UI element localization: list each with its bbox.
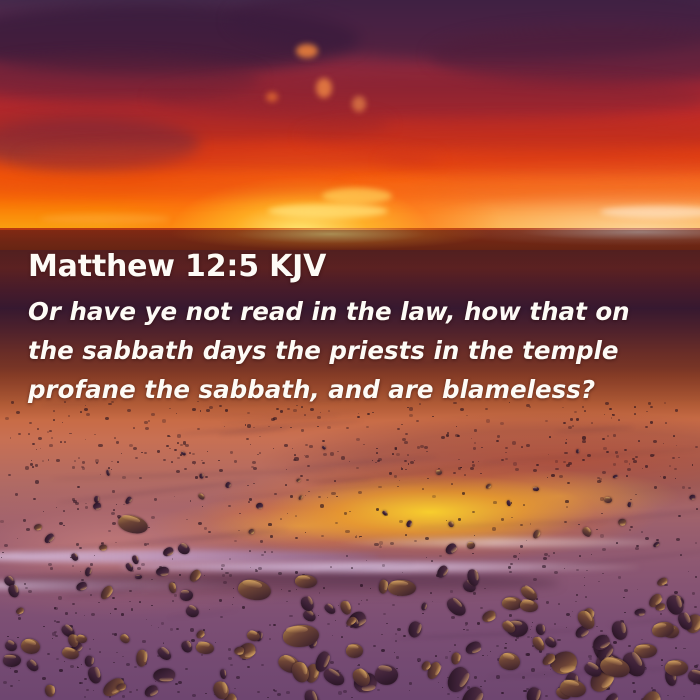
- sand-grit: [111, 512, 115, 515]
- sand-grit: [542, 565, 546, 568]
- sand-grit: [287, 513, 288, 514]
- sand-grit: [260, 540, 263, 543]
- sand-grit: [630, 526, 633, 528]
- sand-grit: [323, 453, 327, 456]
- sand-grit: [248, 501, 250, 503]
- sand-grit: [293, 409, 297, 412]
- sand-grit: [624, 460, 627, 463]
- sand-grit: [584, 577, 585, 578]
- sand-grit: [359, 537, 360, 538]
- verse-body: Or have ye not read in the law, how that…: [28, 292, 680, 409]
- sand-grit: [270, 535, 273, 537]
- pebble: [19, 636, 42, 657]
- sand-grit: [404, 460, 407, 463]
- sand-grit: [613, 641, 617, 644]
- sand-grit: [603, 447, 606, 450]
- sand-grit: [247, 666, 250, 668]
- pebble: [450, 651, 462, 665]
- sand-grit: [321, 535, 324, 537]
- sand-grit: [94, 434, 96, 436]
- pebble: [24, 658, 39, 673]
- sand-grit: [202, 506, 203, 507]
- sand-grit: [409, 690, 410, 691]
- sand-grit: [661, 665, 662, 666]
- sand-grit: [126, 663, 130, 666]
- sand-grit: [17, 637, 18, 638]
- sand-grit: [111, 469, 112, 470]
- sand-grit: [484, 680, 486, 682]
- sand-grit: [363, 444, 365, 445]
- sand-grit: [185, 444, 189, 447]
- sand-grit: [566, 613, 570, 616]
- sand-grit: [464, 474, 467, 476]
- sand-grit: [273, 624, 276, 626]
- sand-grit: [14, 670, 17, 673]
- sand-grit: [496, 440, 499, 442]
- sand-grit: [123, 504, 125, 505]
- pebble: [484, 483, 492, 490]
- sand-ripple: [562, 497, 700, 527]
- sand-grit: [397, 628, 401, 631]
- sand-grit: [280, 518, 282, 520]
- sand-grit: [18, 433, 21, 435]
- sand-grit: [624, 449, 627, 451]
- pebble: [195, 640, 215, 655]
- sand-grit: [112, 597, 115, 599]
- sand-grit: [174, 594, 177, 597]
- sand-grit: [68, 415, 70, 416]
- sand-grit: [146, 619, 147, 620]
- sand-grit: [122, 695, 125, 698]
- sand-grit: [472, 511, 475, 513]
- sand-grit: [204, 527, 207, 530]
- sand-grit: [523, 690, 526, 693]
- sand-grit: [176, 628, 179, 630]
- sand-grit: [247, 485, 249, 487]
- sand-grit: [675, 478, 676, 479]
- sand-grit: [392, 604, 395, 606]
- sand-grit: [215, 642, 216, 643]
- sand-grit: [191, 639, 195, 642]
- sand-grit: [521, 446, 523, 448]
- sand-grit: [76, 543, 79, 546]
- sand-grit: [550, 669, 552, 670]
- sand-grit: [558, 603, 560, 605]
- sand-grit: [623, 597, 625, 598]
- sand-grit: [458, 459, 460, 461]
- sand-grit: [245, 424, 247, 425]
- sand-grit: [154, 498, 157, 500]
- pebble: [345, 642, 364, 659]
- sand-grit: [300, 475, 304, 478]
- sand-grit: [676, 538, 680, 541]
- sand-grit: [513, 555, 517, 558]
- sand-grit: [148, 527, 150, 528]
- sand-grit: [487, 655, 488, 656]
- sand-grit: [585, 596, 587, 598]
- sand-grit: [497, 435, 500, 437]
- sand-grit: [409, 414, 413, 417]
- sand-grit: [84, 678, 87, 681]
- sand-grit: [64, 441, 66, 443]
- pebble: [92, 502, 101, 510]
- sand-grit: [37, 428, 39, 429]
- pebble: [374, 663, 400, 687]
- sand-grit: [694, 665, 698, 668]
- pebble: [463, 639, 482, 656]
- sand-grit: [56, 507, 58, 508]
- sand-grit: [673, 435, 675, 437]
- sand-grit: [77, 508, 79, 510]
- sand-grit: [234, 688, 236, 689]
- sand-grit: [116, 504, 117, 505]
- sand-grit: [116, 652, 118, 654]
- sand-grit: [675, 409, 679, 412]
- sand-grit: [612, 414, 615, 416]
- sand-grit: [309, 445, 312, 448]
- sand-grit: [23, 519, 27, 522]
- sand-grit: [323, 587, 325, 589]
- sand-grit: [219, 469, 223, 472]
- sand-grit: [75, 612, 77, 614]
- sand-grit: [108, 530, 111, 532]
- sand-grit: [474, 442, 476, 444]
- sand-grit: [358, 603, 360, 605]
- sand-grit: [426, 557, 427, 558]
- pebble: [636, 688, 665, 700]
- sand-grit: [378, 486, 382, 489]
- sand-grit: [576, 569, 579, 572]
- sand-grit: [35, 464, 38, 466]
- sand-grit: [79, 547, 82, 549]
- sand-grit: [239, 513, 240, 514]
- sand-grit: [417, 446, 421, 449]
- sand-grit: [660, 476, 662, 477]
- sand-grit: [505, 447, 508, 449]
- sand-grit: [389, 472, 392, 475]
- sand-grit: [93, 639, 94, 640]
- sand-grit: [692, 592, 695, 594]
- sand-grit: [105, 417, 109, 420]
- cloud-streak: [0, 118, 200, 170]
- sand-grit: [95, 459, 99, 462]
- sand-grit: [611, 417, 613, 418]
- pebble: [15, 607, 25, 616]
- sand-grit: [501, 692, 504, 694]
- pebble: [535, 624, 546, 636]
- sand-grit: [49, 444, 53, 447]
- sand-grit: [383, 613, 386, 615]
- cloud-highlight: [40, 214, 170, 224]
- sand-grit: [678, 457, 679, 458]
- sand-grit: [81, 579, 84, 581]
- sand-grit: [25, 466, 29, 469]
- sand-grit: [628, 645, 631, 647]
- sand-grit: [613, 434, 616, 436]
- sand-grit: [208, 531, 212, 534]
- sand-grit: [242, 606, 246, 609]
- sand-grit: [335, 620, 337, 621]
- sand-grit: [158, 627, 159, 628]
- sand-grit: [58, 596, 62, 599]
- sand-grit: [129, 691, 131, 693]
- sand-grit: [582, 436, 586, 439]
- sand-grit: [513, 462, 517, 465]
- sand-grit: [695, 576, 697, 577]
- sand-grit: [597, 480, 601, 483]
- sand-grit: [185, 668, 188, 670]
- sand-grit: [407, 454, 409, 456]
- sand-grit: [477, 622, 480, 625]
- sand-grit: [144, 452, 147, 454]
- sand-grit: [141, 563, 145, 566]
- sand-grit: [635, 494, 637, 496]
- sand-grit: [515, 468, 519, 471]
- sand-grit: [626, 475, 629, 477]
- sand-grit: [533, 469, 537, 472]
- pebble: [225, 482, 232, 490]
- pebble: [106, 470, 110, 476]
- sand-grit: [695, 542, 697, 544]
- cloud-highlight: [352, 96, 366, 112]
- pebble: [387, 579, 416, 597]
- sand-grit: [129, 601, 131, 603]
- sand-grit: [518, 558, 520, 559]
- sand-grit: [177, 442, 179, 444]
- sand-grit: [450, 590, 453, 592]
- sand-grit: [557, 639, 560, 642]
- sand-grit: [457, 697, 459, 699]
- sand-grit: [269, 624, 271, 626]
- sand-grit: [80, 571, 81, 572]
- sand-grit: [286, 601, 288, 602]
- sand-grit: [77, 486, 80, 488]
- sand-grit: [26, 528, 30, 531]
- sand-grit: [376, 508, 379, 511]
- sand-grit: [568, 426, 572, 429]
- sand-grit: [127, 409, 131, 412]
- sand-grit: [131, 608, 134, 610]
- verse-reference: Matthew 12:5 KJV: [28, 249, 326, 284]
- sand-grit: [405, 433, 408, 435]
- sand-grit: [72, 565, 75, 567]
- sand-grit: [545, 695, 548, 697]
- sand-grit: [466, 415, 467, 416]
- sand-grit: [522, 676, 525, 679]
- sand-grit: [343, 690, 347, 693]
- sand-grit: [163, 459, 166, 461]
- sand-grit: [531, 668, 535, 671]
- sand-grit: [174, 496, 175, 497]
- sand-grit: [72, 498, 75, 500]
- sand-grit: [10, 437, 11, 438]
- sand-grit: [8, 474, 11, 476]
- sand-grit: [624, 612, 626, 613]
- sand-grit: [43, 626, 45, 627]
- sand-grit: [234, 460, 238, 463]
- pebble: [466, 541, 475, 548]
- sand-grit: [598, 581, 600, 582]
- sand-grit: [205, 476, 208, 478]
- pebble: [3, 639, 18, 653]
- verse-line-1: Or have ye not read in the law, how that…: [28, 292, 680, 331]
- sand-grit: [555, 460, 558, 462]
- sand-grit: [40, 448, 41, 449]
- sand-grit: [247, 412, 249, 414]
- sand-grit: [375, 462, 376, 463]
- sand-grit: [63, 510, 66, 512]
- sand-grit: [108, 467, 110, 469]
- sand-grit: [4, 544, 8, 547]
- sand-grit: [466, 629, 469, 632]
- sand-grit: [222, 574, 225, 577]
- sand-grit: [575, 601, 577, 602]
- sand-grit: [545, 420, 548, 423]
- sand-grit: [410, 461, 414, 464]
- sand-grit: [232, 604, 233, 605]
- sand-grit: [458, 518, 461, 521]
- sand-grit: [504, 647, 507, 650]
- sand-grit: [447, 693, 450, 695]
- sand-grit: [416, 420, 419, 422]
- sand-grit: [171, 461, 173, 463]
- sand-grit: [401, 468, 403, 469]
- sand-grit: [520, 524, 523, 527]
- pebble: [86, 666, 103, 686]
- sand-grit: [257, 454, 259, 456]
- sand-grit: [250, 444, 251, 445]
- sand-grit: [157, 450, 160, 453]
- sand-grit: [471, 438, 472, 439]
- sand-grit: [228, 505, 231, 507]
- sand-grit: [50, 567, 53, 569]
- sand-grit: [396, 453, 400, 456]
- sand-grit: [320, 504, 324, 507]
- sand-grit: [114, 437, 116, 439]
- sand-grit: [505, 458, 508, 460]
- sand-grit: [627, 468, 631, 471]
- sand-grit: [480, 473, 481, 474]
- sand-grit: [294, 457, 298, 460]
- sand-grit: [589, 658, 592, 660]
- sand-grit: [24, 583, 26, 584]
- sand-grit: [308, 491, 310, 492]
- sand-grit: [399, 520, 403, 523]
- sand-grit: [360, 584, 363, 586]
- sand-grit: [582, 459, 585, 461]
- sand-grit: [654, 486, 657, 488]
- pebble: [43, 532, 55, 544]
- sand-grit: [660, 613, 662, 614]
- sand-grit: [482, 655, 484, 656]
- sand-grit: [207, 451, 208, 452]
- sand-grit: [115, 542, 117, 544]
- sand-grit: [409, 682, 412, 684]
- sand-grit: [358, 491, 362, 494]
- sand-grit: [56, 459, 59, 462]
- pebble: [118, 633, 131, 646]
- sand-grit: [394, 475, 397, 478]
- sand-grit: [48, 459, 50, 460]
- sand-grit: [113, 509, 115, 511]
- sand-grit: [301, 429, 305, 432]
- sand-grit: [280, 410, 283, 413]
- sand-grit: [318, 615, 319, 616]
- sand-grit: [253, 483, 254, 484]
- pebble: [142, 683, 159, 699]
- sand-grit: [201, 654, 203, 655]
- sand-grit: [632, 458, 635, 460]
- sand-grit: [646, 411, 647, 412]
- sand-grit: [392, 453, 394, 455]
- sand-grit: [65, 612, 68, 614]
- sand-grit: [18, 615, 19, 616]
- sand-grit: [116, 441, 120, 444]
- sand-grit: [322, 440, 325, 442]
- sand-grit: [55, 635, 58, 637]
- sand-grit: [531, 626, 532, 627]
- sand-grit: [17, 538, 18, 539]
- sand-grit: [139, 477, 141, 479]
- sand-grit: [381, 649, 385, 652]
- sand-grit: [273, 689, 275, 691]
- sand-grit: [56, 621, 59, 624]
- sand-grit: [336, 496, 337, 497]
- sand-grit: [346, 427, 349, 429]
- sand-grit: [645, 465, 648, 467]
- sand-grit: [523, 504, 525, 506]
- sand-grit: [551, 474, 555, 477]
- sand-grit: [62, 422, 63, 423]
- sand-grit: [358, 664, 360, 666]
- pebble: [544, 636, 558, 650]
- sand-grit: [532, 622, 533, 623]
- sand-grit: [451, 616, 455, 619]
- sand-grit: [576, 594, 578, 595]
- pebble: [295, 478, 300, 483]
- pebble: [323, 603, 337, 617]
- sand-grit: [74, 460, 76, 462]
- sand-grit: [399, 480, 400, 481]
- sand-grit: [274, 493, 276, 495]
- sand-grit: [176, 413, 177, 414]
- sand-grit: [327, 623, 330, 625]
- sand-grit: [273, 448, 275, 449]
- sand-grit: [47, 653, 49, 655]
- sand-grit: [69, 433, 71, 435]
- pebble: [627, 502, 632, 508]
- sand-grit: [480, 607, 483, 609]
- sand-grit: [11, 401, 14, 403]
- sand-grit: [111, 461, 113, 463]
- sand-grit: [345, 530, 349, 533]
- sand-grit: [641, 531, 643, 533]
- sand-grit: [474, 429, 477, 431]
- sand-grit: [570, 418, 573, 421]
- sand-grit: [618, 419, 620, 421]
- sand-grit: [351, 567, 353, 569]
- sand-grit: [574, 411, 578, 414]
- sand-grit: [93, 690, 94, 691]
- pebble: [299, 595, 316, 613]
- sand-grit: [341, 456, 345, 459]
- sand-grit: [190, 628, 194, 631]
- sand-grit: [328, 410, 330, 412]
- sand-grit: [600, 534, 604, 537]
- sand-grit: [692, 464, 694, 465]
- sand-grit: [454, 644, 456, 646]
- sand-grit: [632, 682, 635, 684]
